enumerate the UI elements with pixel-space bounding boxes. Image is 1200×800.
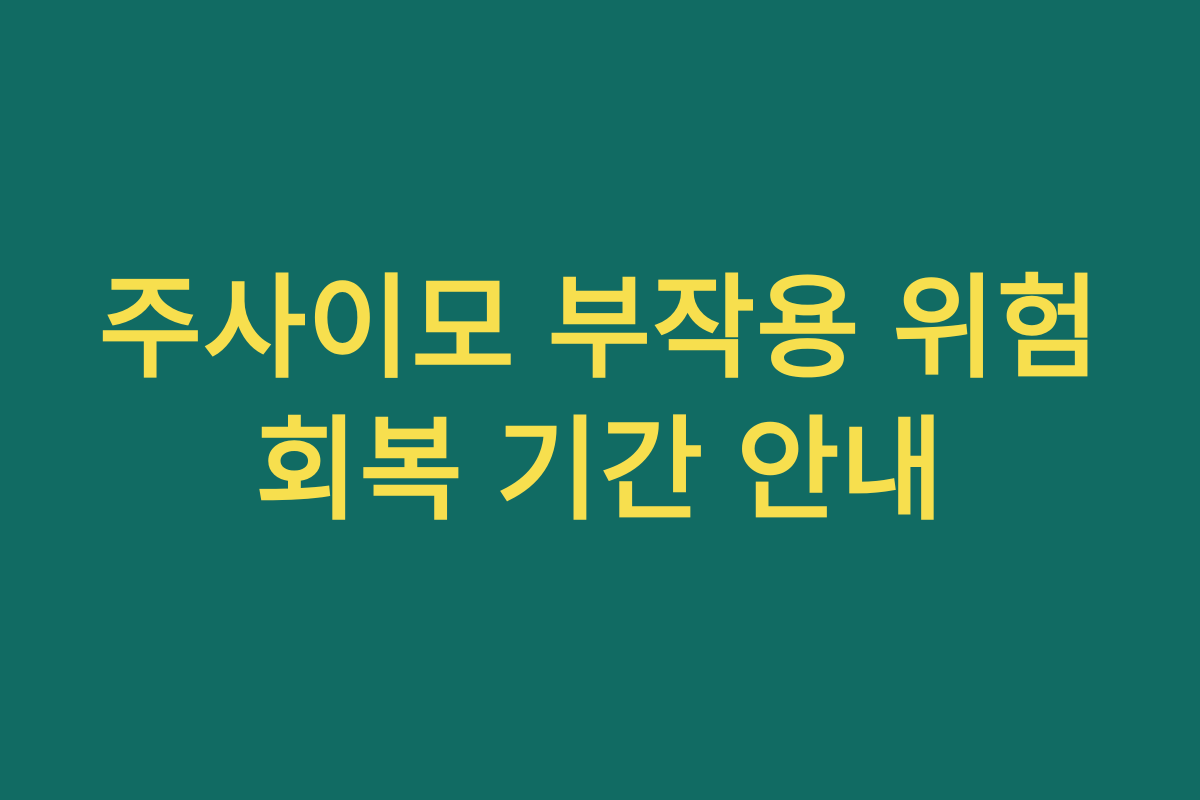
headline-line-2: 회복 기간 안내 bbox=[40, 400, 1160, 542]
poster-canvas: 주사이모 부작용 위험 회복 기간 안내 bbox=[0, 0, 1200, 800]
headline-block: 주사이모 부작용 위험 회복 기간 안내 bbox=[0, 258, 1200, 542]
headline-line-1: 주사이모 부작용 위험 bbox=[40, 258, 1160, 400]
